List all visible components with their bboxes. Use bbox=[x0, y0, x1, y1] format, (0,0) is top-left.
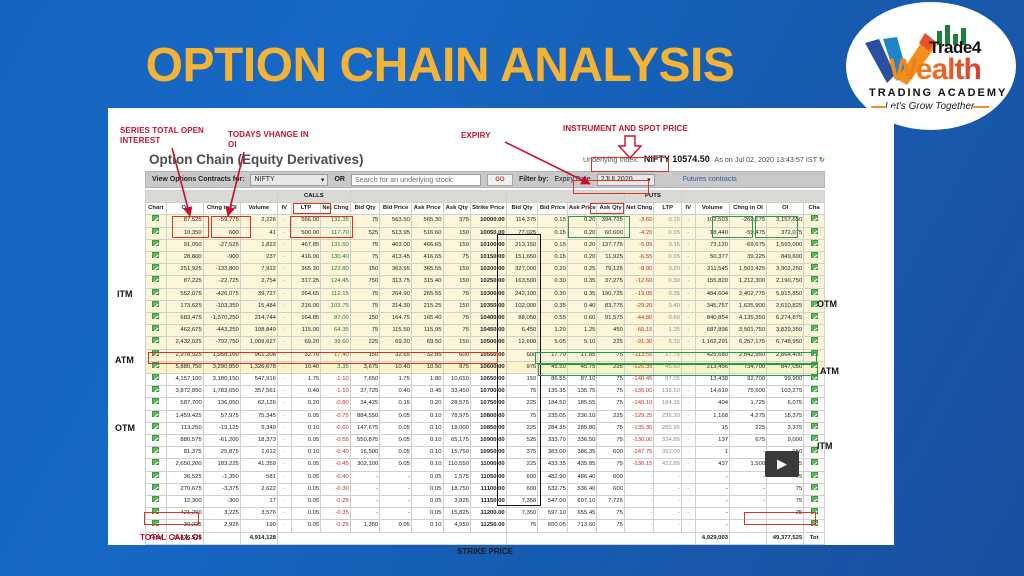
header-call-bid-qty[interactable]: Bid Qty bbox=[350, 203, 380, 215]
table-row[interactable]: 880,575-61,20018,373-0.05-0.55550,8750.0… bbox=[146, 435, 825, 447]
calls-group-label: CALLS bbox=[277, 191, 350, 203]
cell-put-volume: - bbox=[695, 496, 729, 508]
cell-put-net-chng: - bbox=[624, 483, 654, 495]
header-call-oi[interactable]: OI bbox=[166, 203, 203, 215]
chart-link-icon[interactable] bbox=[804, 471, 825, 483]
chart-link-icon[interactable] bbox=[146, 374, 167, 386]
annotation-box-atm-put-row bbox=[535, 352, 817, 364]
cell-put-volume: 137 bbox=[695, 435, 729, 447]
logo-brand-main: Wealth bbox=[889, 53, 981, 87]
table-row[interactable]: 28,800-900237-416.90130.4075413.45416.65… bbox=[146, 252, 825, 264]
cell-call-bid-price: 0.05 bbox=[380, 520, 412, 532]
chart-link-icon[interactable] bbox=[804, 227, 825, 239]
cell-put-chng-oi: 1,500 bbox=[730, 459, 767, 471]
cell-put-oi: 103,275 bbox=[767, 386, 804, 398]
annotation-box-total-call-oi bbox=[144, 512, 199, 525]
table-row[interactable]: 552,075-426,07539,727-264.65112.1575264.… bbox=[146, 288, 825, 300]
cell-put-net-chng: -135.30 bbox=[624, 422, 654, 434]
cell-call-bid-price: - bbox=[380, 496, 412, 508]
cell-call-oi: 270,675 bbox=[166, 483, 203, 495]
cell-call-net-chng: -0.25 bbox=[321, 496, 351, 508]
cell-call-net-chng: -0.60 bbox=[321, 422, 351, 434]
header-chart-right[interactable]: Cha bbox=[804, 203, 825, 215]
chart-link-icon[interactable] bbox=[804, 276, 825, 288]
cell-call-bid-qty: 147,675 bbox=[350, 422, 380, 434]
cell-strike-price: 10000.00 bbox=[470, 215, 506, 227]
cell-call-chng-oi: 183,225 bbox=[203, 459, 240, 471]
chart-link-icon[interactable] bbox=[146, 325, 167, 337]
cell-call-chng-oi: -792,750 bbox=[203, 337, 240, 349]
table-row[interactable]: 2,650,200183,22541,359-0.05-0.45302,1000… bbox=[146, 459, 825, 471]
table-row[interactable]: 81,37525,8751,612-0.10-0.4016,5000.050.1… bbox=[146, 447, 825, 459]
table-row[interactable]: 3,872,8501,783,650357,561-0.40-1.1037,72… bbox=[146, 386, 825, 398]
cell-put-ltp: 0.15 bbox=[654, 252, 681, 264]
cell-put-ltp: 0.15 bbox=[654, 227, 681, 239]
chart-link-icon[interactable] bbox=[804, 496, 825, 508]
chart-link-icon[interactable] bbox=[804, 313, 825, 325]
chevron-down-icon: ▾ bbox=[321, 176, 325, 184]
cell-put-ltp: 432.85 bbox=[654, 459, 681, 471]
cell-put-net-chng: -66.15 bbox=[624, 325, 654, 337]
cell-call-volume: 62,126 bbox=[240, 398, 277, 410]
cell-put-oi: 2,610,825 bbox=[767, 300, 804, 312]
header-put-oi[interactable]: OI bbox=[767, 203, 804, 215]
annotation-total-call-oi: TOTAL CALL OI bbox=[140, 533, 201, 543]
chart-link-icon[interactable] bbox=[146, 276, 167, 288]
chart-link-icon[interactable] bbox=[146, 459, 167, 471]
chart-icon bbox=[152, 325, 159, 331]
chart-icon bbox=[152, 423, 159, 429]
futures-contracts-link[interactable]: Futures contracts bbox=[683, 176, 737, 183]
cell-call-bid-qty: 75 bbox=[350, 215, 380, 227]
cell-call-iv: - bbox=[277, 264, 291, 276]
cell-call-chng-oi: 3,225 bbox=[203, 508, 240, 520]
cell-call-ask-qty: 18,750 bbox=[443, 483, 470, 495]
cell-call-bid-qty: 34,425 bbox=[350, 398, 380, 410]
cell-put-ask-price: 0.35 bbox=[567, 276, 597, 288]
cell-call-bid-qty: 550,875 bbox=[350, 435, 380, 447]
cell-call-oi: 87,225 bbox=[166, 276, 203, 288]
header-call-ask-price[interactable]: Ask Price bbox=[411, 203, 443, 215]
chart-link-icon[interactable] bbox=[146, 398, 167, 410]
header-call-iv[interactable]: IV bbox=[277, 203, 291, 215]
cell-call-iv: - bbox=[277, 435, 291, 447]
table-row[interactable]: 587,700136,05062,126-0.20-0.8034,4250.15… bbox=[146, 398, 825, 410]
cell-call-oi: 880,575 bbox=[166, 435, 203, 447]
chart-link-icon[interactable] bbox=[804, 239, 825, 251]
cell-call-net-chng: 124.45 bbox=[321, 276, 351, 288]
cell-call-bid-price: 0.40 bbox=[380, 386, 412, 398]
or-label: OR bbox=[334, 176, 345, 183]
cell-put-net-chng: -130.00 bbox=[624, 435, 654, 447]
cell-put-volume: - bbox=[695, 520, 729, 532]
cell-call-volume: 581 bbox=[240, 471, 277, 483]
chart-icon bbox=[152, 411, 159, 417]
cell-put-chng-oi: 1,501,425 bbox=[730, 264, 767, 276]
cell-put-net-chng: - bbox=[624, 496, 654, 508]
cell-put-ask-price: 536.40 bbox=[567, 483, 597, 495]
go-button[interactable]: GO bbox=[487, 174, 513, 186]
cell-call-net-chng: -0.55 bbox=[321, 435, 351, 447]
cell-call-bid-price: 413.45 bbox=[380, 252, 412, 264]
chart-link-icon[interactable] bbox=[804, 459, 825, 471]
cell-call-ask-price: 0.10 bbox=[411, 459, 443, 471]
cell-put-ask-price: 0.20 bbox=[567, 252, 597, 264]
search-input[interactable]: Search for an underlying stock: bbox=[351, 174, 481, 186]
cell-call-chng-oi: -1,370,250 bbox=[203, 313, 240, 325]
cell-call-volume: 15,484 bbox=[240, 300, 277, 312]
cell-call-ltp: 216.00 bbox=[291, 300, 321, 312]
cell-call-bid-price: 0.15 bbox=[380, 398, 412, 410]
cell-call-ltp: 164.85 bbox=[291, 313, 321, 325]
cell-call-net-chng: 131.50 bbox=[321, 239, 351, 251]
cell-call-ask-qty: 65,175 bbox=[443, 435, 470, 447]
cell-put-bid-price: 0.30 bbox=[538, 288, 568, 300]
cell-put-ask-qty: 79,125 bbox=[597, 264, 624, 276]
chart-link-icon[interactable] bbox=[146, 300, 167, 312]
cell-call-chng-oi: -27,525 bbox=[203, 239, 240, 251]
table-row[interactable]: 113,250-19,1255,349-0.10-0.60147,6750.05… bbox=[146, 422, 825, 434]
annotation-box-call-ltp-netchng bbox=[290, 216, 353, 238]
cell-put-ask-qty: 91,575 bbox=[597, 313, 624, 325]
cell-call-bid-price: - bbox=[380, 483, 412, 495]
cell-call-bid-qty: 75 bbox=[350, 252, 380, 264]
table-row[interactable]: 30,2252,925190-0.05-0.251,3500.050.104,9… bbox=[146, 520, 825, 532]
cell-call-ask-price: 0.45 bbox=[411, 386, 443, 398]
cell-put-volume: 1,162,291 bbox=[695, 337, 729, 349]
header-strike-price[interactable]: Strike Price bbox=[470, 203, 506, 215]
cell-call-ask-price: 265.55 bbox=[411, 288, 443, 300]
chart-link-icon[interactable] bbox=[804, 252, 825, 264]
table-row[interactable]: 87,225-22,7252,754-317.25124.45750313.75… bbox=[146, 276, 825, 288]
table-row[interactable]: 12,300-30017-0.05-0.25--0.053,82511150.0… bbox=[146, 496, 825, 508]
chart-icon bbox=[152, 435, 159, 441]
cell-put-ask-price: 386.35 bbox=[567, 447, 597, 459]
chart-link-icon[interactable] bbox=[146, 496, 167, 508]
instrument-select[interactable]: NIFTY ▾ bbox=[250, 174, 328, 186]
table-row[interactable]: 270,675-3,3752,622-0.05-0.30--0.0518,750… bbox=[146, 483, 825, 495]
side-label-left-otm: OTM bbox=[115, 423, 135, 433]
table-row[interactable]: 1,459,42557,97575,345-0.05-0.75884,5500.… bbox=[146, 410, 825, 422]
cell-call-iv: - bbox=[277, 325, 291, 337]
cell-put-volume: - bbox=[695, 508, 729, 520]
cell-put-ask-price: 135.75 bbox=[567, 386, 597, 398]
cell-call-chng-oi: -443,250 bbox=[203, 325, 240, 337]
cell-call-ltp: 0.10 bbox=[291, 447, 321, 459]
cell-call-oi: 173,625 bbox=[166, 300, 203, 312]
header-put-net-chng[interactable]: Net Chng bbox=[624, 203, 654, 215]
cell-call-bid-price: 513.95 bbox=[380, 227, 412, 239]
totals-blank-2 bbox=[277, 532, 506, 544]
cell-call-chng-oi: 57,975 bbox=[203, 410, 240, 422]
chart-icon bbox=[152, 252, 159, 258]
chart-link-icon[interactable] bbox=[146, 447, 167, 459]
cell-call-bid-price: 313.75 bbox=[380, 276, 412, 288]
cell-call-net-chng: -0.40 bbox=[321, 471, 351, 483]
chart-link-icon[interactable] bbox=[146, 471, 167, 483]
group-spacer-right bbox=[681, 191, 824, 203]
group-header-row: CALLS PUTS bbox=[146, 191, 825, 203]
cell-call-oi: 552,075 bbox=[166, 288, 203, 300]
cell-call-bid-qty: 75 bbox=[350, 325, 380, 337]
cell-put-oi: 6,748,950 bbox=[767, 337, 804, 349]
strike-price-caption: STRIKE PRICE bbox=[141, 547, 829, 556]
annotation-box-total-put-oi bbox=[744, 512, 816, 525]
cell-call-ask-price: 466.65 bbox=[411, 239, 443, 251]
cell-call-bid-price: - bbox=[380, 508, 412, 520]
cell-call-ask-qty: 28,575 bbox=[443, 398, 470, 410]
cell-call-ltp: 69.20 bbox=[291, 337, 321, 349]
chart-link-icon[interactable] bbox=[146, 313, 167, 325]
chart-icon bbox=[152, 398, 159, 404]
chart-icon bbox=[152, 374, 159, 380]
cell-put-net-chng: -136.15 bbox=[624, 459, 654, 471]
group-spacer-mid bbox=[350, 191, 506, 203]
cell-call-volume: 18,373 bbox=[240, 435, 277, 447]
header-call-ask-qty[interactable]: Ask Qty bbox=[443, 203, 470, 215]
header-put-iv[interactable]: IV bbox=[681, 203, 695, 215]
cell-put-iv: - bbox=[681, 435, 695, 447]
chart-link-icon[interactable] bbox=[804, 386, 825, 398]
annotation-box-atm-call-row bbox=[148, 352, 498, 364]
cell-call-chng-oi: -22,725 bbox=[203, 276, 240, 288]
filter-toolbar: View Options Contracts for: NIFTY ▾ OR S… bbox=[145, 171, 825, 188]
chart-link-icon[interactable] bbox=[146, 337, 167, 349]
cell-call-iv: - bbox=[277, 313, 291, 325]
cell-put-iv: - bbox=[681, 325, 695, 337]
cell-call-chng-oi: -61,200 bbox=[203, 435, 240, 447]
cell-call-net-chng: -0.30 bbox=[321, 483, 351, 495]
header-call-chng-oi[interactable]: Chng in OI bbox=[203, 203, 240, 215]
chart-link-icon[interactable] bbox=[146, 215, 167, 227]
cell-put-ask-price: 0.20 bbox=[567, 239, 597, 251]
chart-link-icon[interactable] bbox=[804, 410, 825, 422]
cell-put-chng-oi: 4,135,350 bbox=[730, 313, 767, 325]
cell-call-chng-oi: 136,050 bbox=[203, 398, 240, 410]
cell-call-ask-qty: 33,450 bbox=[443, 386, 470, 398]
cell-put-chng-oi: 3,501,750 bbox=[730, 325, 767, 337]
cell-call-net-chng: 87.00 bbox=[321, 313, 351, 325]
cell-call-ask-price: 215.25 bbox=[411, 300, 443, 312]
chart-icon bbox=[811, 325, 818, 331]
view-contracts-label: View Options Contracts for: bbox=[152, 176, 244, 183]
cell-call-ltp: 416.90 bbox=[291, 252, 321, 264]
cell-call-oi: 91,050 bbox=[166, 239, 203, 251]
chart-link-icon[interactable] bbox=[146, 227, 167, 239]
cell-call-bid-qty: 150 bbox=[350, 313, 380, 325]
cell-call-bid-price: 0.05 bbox=[380, 435, 412, 447]
cell-call-bid-qty: 750 bbox=[350, 276, 380, 288]
cell-call-bid-price: 164.75 bbox=[380, 313, 412, 325]
cell-call-iv: - bbox=[277, 288, 291, 300]
chart-link-icon[interactable] bbox=[804, 422, 825, 434]
chart-link-icon[interactable] bbox=[146, 288, 167, 300]
cell-put-chng-oi: - bbox=[730, 447, 767, 459]
chart-link-icon[interactable] bbox=[146, 422, 167, 434]
header-put-bid-qty[interactable]: Bid Qty bbox=[506, 203, 538, 215]
side-label-right-itm: ITM bbox=[817, 441, 833, 451]
cell-put-ask-qty: 225 bbox=[597, 337, 624, 349]
cell-put-chng-oi: 6,257,175 bbox=[730, 337, 767, 349]
cell-call-chng-oi: 3,180,150 bbox=[203, 374, 240, 386]
chart-link-icon[interactable] bbox=[146, 252, 167, 264]
cell-put-net-chng: -44.80 bbox=[624, 313, 654, 325]
cell-call-chng-oi: -19,125 bbox=[203, 422, 240, 434]
chart-link-icon[interactable] bbox=[804, 337, 825, 349]
annotation-instrument-spot: INSTRUMENT AND SPOT PRICE bbox=[563, 124, 688, 134]
cell-put-iv: - bbox=[681, 410, 695, 422]
cell-put-oi: 3,902,250 bbox=[767, 264, 804, 276]
table-row[interactable]: 36,525-1,350581-0.05-0.40--0.051,5751105… bbox=[146, 471, 825, 483]
annotation-box-puts-group bbox=[590, 203, 624, 214]
cell-call-oi: 36,525 bbox=[166, 471, 203, 483]
chart-icon bbox=[152, 484, 159, 490]
cell-put-oi: 1,593,000 bbox=[767, 239, 804, 251]
chart-icon bbox=[811, 264, 818, 270]
cell-put-iv: - bbox=[681, 447, 695, 459]
cell-put-ask-price: 336.50 bbox=[567, 435, 597, 447]
cell-call-ask-qty: 375 bbox=[443, 215, 470, 227]
group-spacer-left bbox=[146, 191, 278, 203]
header-chart-left[interactable]: Chart bbox=[146, 203, 167, 215]
chart-icon bbox=[811, 459, 818, 465]
logo-tagline: Let's Grow Together bbox=[885, 101, 974, 112]
cell-call-ask-price: 0.10 bbox=[411, 410, 443, 422]
table-row[interactable]: 91,050-27,5251,822-467.85131.5075463.004… bbox=[146, 239, 825, 251]
table-row[interactable]: 683,475-1,370,250214,744-164.8587.001501… bbox=[146, 313, 825, 325]
cell-call-ltp: 115.00 bbox=[291, 325, 321, 337]
cell-put-net-chng: -91.30 bbox=[624, 337, 654, 349]
totals-row: Total 29,476,575 4,914,128 4,929,003 49,… bbox=[146, 532, 825, 544]
cell-put-ltp: 135.50 bbox=[654, 386, 681, 398]
cell-put-bid-price: 0.15 bbox=[538, 215, 568, 227]
cell-call-volume: 190 bbox=[240, 520, 277, 532]
table-row[interactable]: 421,2003,2253,576-0.05-0.35--0.0515,8251… bbox=[146, 508, 825, 520]
cell-call-ask-qty: 15,825 bbox=[443, 508, 470, 520]
chart-link-icon[interactable] bbox=[146, 239, 167, 251]
table-row[interactable]: 251,925-133,8007,912-365.30123.80150363.… bbox=[146, 264, 825, 276]
cell-call-bid-qty: 16,500 bbox=[350, 447, 380, 459]
cell-call-oi: 12,300 bbox=[166, 496, 203, 508]
chart-link-icon[interactable] bbox=[804, 398, 825, 410]
cell-put-net-chng: -5.05 bbox=[624, 239, 654, 251]
cell-call-ask-qty: 18,000 bbox=[443, 422, 470, 434]
cell-call-oi: 28,800 bbox=[166, 252, 203, 264]
chart-link-icon[interactable] bbox=[146, 410, 167, 422]
header-call-volume[interactable]: Volume bbox=[240, 203, 277, 215]
cell-put-ask-qty: 7,725 bbox=[597, 496, 624, 508]
cell-put-iv: - bbox=[681, 459, 695, 471]
table-row[interactable]: 2,432,025-792,7501,009,627-69.2039.60225… bbox=[146, 337, 825, 349]
header-put-bid-price[interactable]: Bid Price bbox=[538, 203, 568, 215]
chart-link-icon[interactable] bbox=[146, 386, 167, 398]
cell-put-ask-qty: 75 bbox=[597, 386, 624, 398]
chart-icon bbox=[811, 411, 818, 417]
cell-call-ask-price: 0.05 bbox=[411, 496, 443, 508]
cell-call-net-chng: 112.15 bbox=[321, 288, 351, 300]
refresh-icon[interactable]: ↻ bbox=[819, 155, 825, 164]
cell-call-oi: 3,872,850 bbox=[166, 386, 203, 398]
cell-put-bid-price: 597.10 bbox=[538, 508, 568, 520]
cell-call-chng-oi: -300 bbox=[203, 496, 240, 508]
cell-call-bid-qty: 884,550 bbox=[350, 410, 380, 422]
cell-put-bid-qty: 7,350 bbox=[506, 508, 538, 520]
cell-call-iv: - bbox=[277, 337, 291, 349]
chart-icon bbox=[152, 337, 159, 343]
cell-put-volume: 345,757 bbox=[695, 300, 729, 312]
cell-call-ltp: 365.30 bbox=[291, 264, 321, 276]
cell-call-net-chng: 123.80 bbox=[321, 264, 351, 276]
cell-call-ask-price: 0.20 bbox=[411, 398, 443, 410]
chart-link-icon[interactable] bbox=[804, 215, 825, 227]
annotation-box-put-chng-oi bbox=[712, 216, 753, 238]
chart-link-icon[interactable] bbox=[804, 483, 825, 495]
cell-put-net-chng: -129.25 bbox=[624, 410, 654, 422]
chart-icon bbox=[152, 496, 159, 502]
cell-call-ask-price: 0.05 bbox=[411, 508, 443, 520]
cell-call-bid-qty: 150 bbox=[350, 264, 380, 276]
cell-put-net-chng: -135.00 bbox=[624, 386, 654, 398]
cell-put-ask-qty: 75 bbox=[597, 520, 624, 532]
cell-put-volume: 404 bbox=[695, 398, 729, 410]
cell-call-iv: - bbox=[277, 300, 291, 312]
chart-link-icon[interactable] bbox=[146, 435, 167, 447]
cell-call-bid-qty: 75 bbox=[350, 288, 380, 300]
cell-put-net-chng: -19.05 bbox=[624, 288, 654, 300]
cell-call-chng-oi: -426,075 bbox=[203, 288, 240, 300]
chart-link-icon[interactable] bbox=[146, 483, 167, 495]
header-put-ltp[interactable]: LTP bbox=[654, 203, 681, 215]
cell-call-chng-oi: -1,350 bbox=[203, 471, 240, 483]
cell-put-ask-qty: 137,775 bbox=[597, 239, 624, 251]
cell-call-volume: 41,359 bbox=[240, 459, 277, 471]
header-call-bid-price[interactable]: Bid Price bbox=[380, 203, 412, 215]
cell-call-ltp: 0.05 bbox=[291, 508, 321, 520]
cell-put-iv: - bbox=[681, 227, 695, 239]
table-row[interactable]: 462,675-443,250198,849-115.0064.3575115.… bbox=[146, 325, 825, 337]
cell-call-volume: 547,916 bbox=[240, 374, 277, 386]
cell-call-bid-price: - bbox=[380, 471, 412, 483]
cell-put-volume: 155,820 bbox=[695, 276, 729, 288]
cell-call-bid-price: 0.05 bbox=[380, 459, 412, 471]
cell-call-ask-price: 0.10 bbox=[411, 520, 443, 532]
cell-call-ask-qty: 75 bbox=[443, 325, 470, 337]
cell-put-bid-price: 0.15 bbox=[538, 252, 568, 264]
cell-call-ask-qty: 15,750 bbox=[443, 447, 470, 459]
cell-put-ltp: 0.20 bbox=[654, 264, 681, 276]
cell-call-iv: - bbox=[277, 386, 291, 398]
cell-call-ask-qty: 150 bbox=[443, 264, 470, 276]
chart-link-icon[interactable] bbox=[146, 264, 167, 276]
cell-put-ltp: 0.15 bbox=[654, 239, 681, 251]
cell-call-ask-qty: 78,975 bbox=[443, 410, 470, 422]
cell-put-ltp: 0.30 bbox=[654, 276, 681, 288]
cell-put-volume: 1 bbox=[695, 447, 729, 459]
cell-put-ltp: - bbox=[654, 508, 681, 520]
cell-call-iv: - bbox=[277, 459, 291, 471]
cell-put-ask-qty: 37,275 bbox=[597, 276, 624, 288]
header-put-chng-oi[interactable]: Chng in OI bbox=[730, 203, 767, 215]
table-row[interactable]: 173,625-103,35015,484-216.00103.7575214.… bbox=[146, 300, 825, 312]
cell-call-ltp: 467.85 bbox=[291, 239, 321, 251]
chart-link-icon[interactable] bbox=[804, 264, 825, 276]
play-button-overlay[interactable]: ▶ bbox=[765, 451, 799, 477]
cell-put-bid-price: 5.05 bbox=[538, 337, 568, 349]
header-put-volume[interactable]: Volume bbox=[695, 203, 729, 215]
chart-link-icon[interactable] bbox=[804, 325, 825, 337]
cell-call-ask-price: 0.05 bbox=[411, 483, 443, 495]
search-placeholder: Search for an underlying stock: bbox=[355, 175, 454, 184]
